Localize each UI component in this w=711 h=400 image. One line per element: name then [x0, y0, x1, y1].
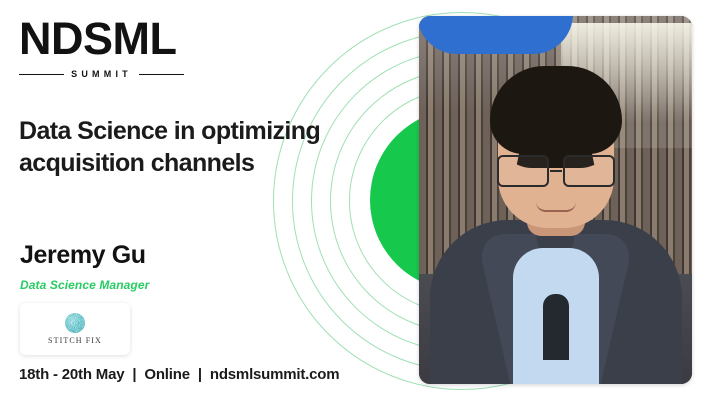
talk-title: Data Science in optimizing acquisition c… — [19, 116, 379, 179]
company-logo-card: STITCH FIX — [20, 303, 130, 355]
shirt-opening — [543, 294, 569, 360]
mouth — [536, 202, 576, 212]
logo-wordmark: NDSML — [19, 16, 184, 61]
event-format: Online — [144, 366, 189, 383]
speaker-photo — [419, 16, 692, 384]
glasses-bridge — [550, 170, 562, 172]
logo-rule-left — [19, 74, 64, 75]
event-dates: 18th - 20th May — [19, 366, 124, 383]
company-name: STITCH FIX — [48, 336, 102, 345]
stitch-fix-circle-icon — [65, 313, 85, 333]
logo-rule-right — [139, 74, 184, 75]
logo-subtitle: SUMMIT — [71, 69, 132, 79]
ndsml-logo: NDSML SUMMIT — [19, 16, 184, 79]
event-website: ndsmlsummit.com — [210, 366, 340, 383]
hair — [490, 66, 622, 154]
lens-left — [497, 155, 549, 187]
event-details-footer: 18th - 20th May | Online | ndsmlsummit.c… — [19, 366, 339, 383]
speaker-figure — [419, 16, 692, 384]
speaker-name: Jeremy Gu — [20, 241, 146, 270]
logo-subtitle-row: SUMMIT — [19, 69, 184, 79]
eyeglasses-icon — [497, 156, 615, 186]
event-speaker-slide: NDSML SUMMIT Data Science in optimizing … — [0, 0, 711, 400]
footer-separator-1: | — [132, 366, 136, 383]
lens-right — [563, 155, 615, 187]
footer-separator-2: | — [198, 366, 202, 383]
speaker-role: Data Science Manager — [20, 278, 149, 292]
